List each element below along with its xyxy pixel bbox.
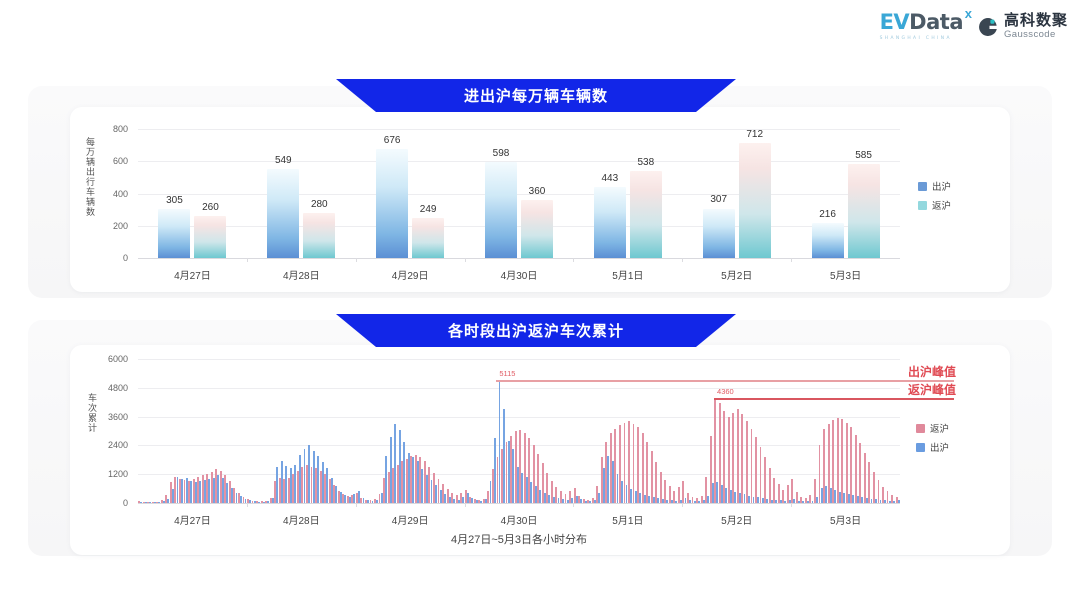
gausscode-cn-name: 高科数聚 (1004, 13, 1068, 28)
bar-value-label: 305 (166, 195, 183, 206)
chart1-x-tick-label: 5月3日 (830, 267, 861, 282)
hourly-bar-back (755, 437, 757, 503)
bar-value-label: 260 (202, 202, 219, 213)
hourly-bar-back (841, 419, 843, 503)
s1-bar-5月3日 (848, 164, 880, 258)
gausscode-logo: 高科数聚 Gausscode (977, 13, 1068, 40)
peak-label-out: 出沪峰值 (908, 363, 956, 380)
hourly-bar-back (741, 414, 743, 503)
bar-value-label: 712 (746, 129, 763, 140)
legend-label: 返沪 (932, 198, 951, 212)
chart1-x-tick (247, 258, 248, 262)
chart1-x-tick-label: 4月28日 (283, 267, 320, 282)
chart1-y-tick-label: 0 (93, 253, 133, 263)
chart2-legend: 返沪出沪 (916, 421, 949, 459)
chart2-x-tick-label: 4月28日 (283, 512, 320, 527)
hourly-bar-out (898, 500, 900, 503)
hourly-bar-back (746, 421, 748, 503)
peak-label-back: 返沪峰值 (908, 381, 956, 398)
bar-value-label: 585 (855, 150, 872, 161)
chart2-gridline (138, 503, 900, 504)
hourly-bar-back (764, 457, 766, 503)
legend-swatch (916, 443, 925, 452)
chart2-x-tick-label: 4月29日 (392, 512, 429, 527)
legend-swatch (916, 424, 925, 433)
s0-bar-5月1日 (594, 187, 626, 258)
gausscode-en-name: Gausscode (1004, 30, 1068, 40)
chart1-legend: 出沪返沪 (918, 179, 951, 217)
chart1-x-tick-label: 5月2日 (721, 267, 752, 282)
evdata-logo: EVData x SHANGHAI CHINA (880, 12, 963, 41)
chart1-y-tick-label: 400 (93, 189, 133, 199)
chart1-gridline (138, 129, 900, 130)
chart-hourly-trips: 车次累计0120024003600480060004月27日4月28日4月29日… (70, 345, 1010, 555)
gausscode-text: 高科数聚 Gausscode (1004, 13, 1068, 40)
chart2-x-tick-label: 5月1日 (612, 512, 643, 527)
chart1-gridline (138, 161, 900, 162)
chart2-y-tick-label: 1200 (93, 469, 133, 479)
evdata-data-text: Data (909, 10, 963, 34)
chart2-x-tick-label: 4月27日 (174, 512, 211, 527)
chart2-x-tick (465, 503, 466, 507)
bar-value-label: 249 (420, 204, 437, 215)
chart1-x-tick-label: 4月29日 (392, 267, 429, 282)
hourly-bar-back (760, 447, 762, 503)
chart1-gridline (138, 226, 900, 227)
chart1-title-ribbon: 进出沪每万辆车辆数 (336, 79, 736, 112)
s0-bar-4月29日 (376, 149, 408, 258)
chart1-x-tick-label: 4月30日 (501, 267, 538, 282)
chart2-x-tick (791, 503, 792, 507)
hourly-bar-back (868, 462, 870, 503)
chart1-y-tick-label: 800 (93, 124, 133, 134)
chart2-x-tick-label: 5月2日 (721, 512, 752, 527)
chart1-legend-item-出沪[interactable]: 出沪 (918, 179, 951, 193)
s1-bar-5月1日 (630, 171, 662, 258)
peak-line-out (496, 380, 954, 381)
hourly-bar-back (850, 427, 852, 503)
evdata-cross-icon: x (965, 7, 972, 20)
chart2-y-tick-label: 2400 (93, 440, 133, 450)
chart2-x-tick (573, 503, 574, 507)
s1-bar-4月27日 (194, 216, 226, 258)
legend-swatch (918, 182, 927, 191)
hourly-bar-back (651, 451, 653, 503)
legend-swatch (918, 201, 927, 210)
s1-bar-5月2日 (739, 143, 771, 258)
chart2-title-ribbon: 各时段出沪返沪车次累计 (336, 314, 736, 347)
hourly-bar-back (646, 442, 648, 503)
chart2-x-tick (356, 503, 357, 507)
bar-value-label: 676 (384, 135, 401, 146)
hourly-bar-back (637, 427, 639, 503)
header-logos: EVData x SHANGHAI CHINA 高科数聚 Gausscode (880, 12, 1068, 41)
bar-value-label: 216 (819, 209, 836, 220)
bar-value-label: 598 (493, 148, 510, 159)
hourly-bar-back (859, 443, 861, 503)
s0-bar-4月28日 (267, 169, 299, 258)
peak-value-back: 4360 (717, 387, 734, 396)
chart2-x-tick-label: 4月30日 (501, 512, 538, 527)
legend-label: 出沪 (932, 179, 951, 193)
chart1-y-tick-label: 200 (93, 221, 133, 231)
chart2-legend-item-返沪[interactable]: 返沪 (916, 421, 949, 435)
evdata-subtitle: SHANGHAI CHINA (880, 36, 952, 41)
hourly-bar-back (769, 468, 771, 503)
s1-bar-4月30日 (521, 200, 553, 258)
hourly-bar-back (737, 409, 739, 503)
bar-value-label: 549 (275, 155, 292, 166)
chart1-legend-item-返沪[interactable]: 返沪 (918, 198, 951, 212)
bar-value-label: 307 (710, 194, 727, 205)
chart1-x-tick (791, 258, 792, 262)
chart1-gridline (138, 194, 900, 195)
chart-daily-vehicles: 每万辆出行车辆数02004006008003052604月27日5492804月… (70, 107, 1010, 292)
hourly-bar-back (655, 462, 657, 503)
gausscode-mark-icon (977, 16, 999, 38)
hourly-bar-back (642, 433, 644, 503)
chart1-y-tick-label: 600 (93, 156, 133, 166)
legend-label: 出沪 (930, 440, 949, 454)
s0-bar-4月27日 (158, 209, 190, 258)
chart2-legend-item-出沪[interactable]: 出沪 (916, 440, 949, 454)
chart2-y-tick-label: 4800 (93, 383, 133, 393)
bar-value-label: 443 (602, 173, 619, 184)
hourly-bar-back (846, 423, 848, 503)
chart2-x-tick (682, 503, 683, 507)
chart1-x-tick (356, 258, 357, 262)
s0-bar-5月3日 (812, 223, 844, 258)
legend-label: 返沪 (930, 421, 949, 435)
hourly-bar-back (837, 418, 839, 503)
hourly-bar-back (751, 429, 753, 503)
chart2-x-tick-label: 5月3日 (830, 512, 861, 527)
s1-bar-4月28日 (303, 213, 335, 258)
chart2-caption: 4月27日~5月3日各小时分布 (451, 531, 587, 547)
bar-value-label: 280 (311, 199, 328, 210)
bar-value-label: 538 (638, 157, 655, 168)
presentation-slide: EVData x SHANGHAI CHINA 高科数聚 Gausscode 进… (0, 0, 1080, 608)
chart2-x-tick (247, 503, 248, 507)
chart1-x-tick (682, 258, 683, 262)
s0-bar-5月2日 (703, 209, 735, 259)
hourly-bar-back (732, 413, 734, 503)
chart1-gridline (138, 258, 900, 259)
chart1-x-tick-label: 5月1日 (612, 267, 643, 282)
evdata-wordmark: EVData (880, 12, 963, 33)
hourly-bar-back (855, 435, 857, 503)
chart1-x-tick-label: 4月27日 (174, 267, 211, 282)
s1-bar-4月29日 (412, 218, 444, 258)
chart2-gridline (138, 417, 900, 418)
peak-value-out: 5115 (499, 369, 515, 378)
chart2-y-tick-label: 0 (93, 498, 133, 508)
chart2-y-tick-label: 3600 (93, 412, 133, 422)
evdata-ev-text: EV (880, 10, 910, 34)
chart1-x-tick (465, 258, 466, 262)
peak-line-back (714, 398, 954, 399)
hourly-bar-back (864, 453, 866, 503)
chart2-gridline (138, 388, 900, 389)
chart2-y-tick-label: 6000 (93, 354, 133, 364)
chart1-x-tick (573, 258, 574, 262)
chart2-gridline (138, 359, 900, 360)
s0-bar-4月30日 (485, 162, 517, 258)
bar-value-label: 360 (529, 186, 546, 197)
